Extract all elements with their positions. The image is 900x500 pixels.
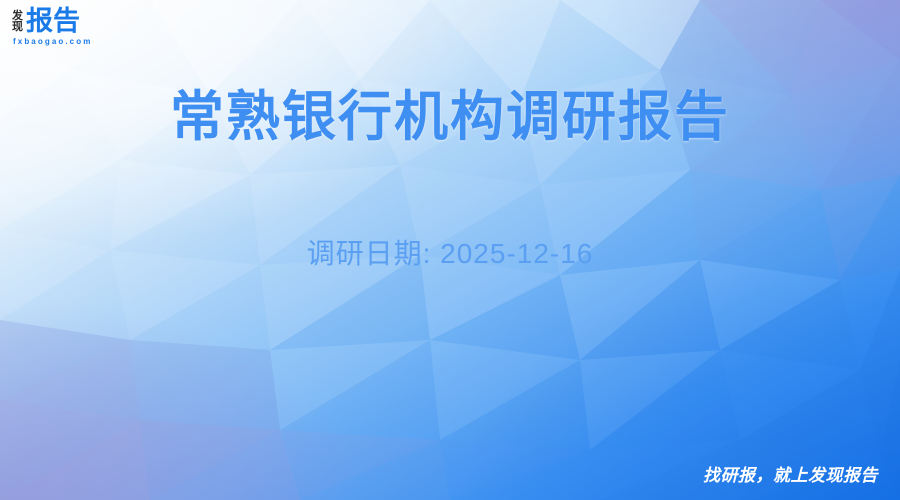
subtitle-block: 调研日期: 2025-12-16	[0, 232, 900, 272]
logo-marks: 发 现 报告	[12, 8, 80, 35]
page-title: 常熟银行机构调研报告	[0, 86, 900, 150]
logo-mark-bottom: 现	[12, 22, 23, 33]
logo-wordmark: 报告	[26, 8, 80, 35]
footer-slogan: 找研报，就上发现报告	[703, 461, 878, 486]
survey-date-line: 调研日期: 2025-12-16	[0, 232, 900, 272]
report-cover-page: 发 现 报告 fxbaogao.com 常熟银行机构调研报告 调研日期: 202…	[0, 0, 900, 500]
logo-domain-text: fxbaogao.com	[13, 37, 92, 46]
title-block: 常熟银行机构调研报告	[0, 86, 900, 150]
site-logo[interactable]: 发 现 报告 fxbaogao.com	[12, 8, 80, 35]
logo-mark-stack: 发 现	[12, 11, 23, 35]
